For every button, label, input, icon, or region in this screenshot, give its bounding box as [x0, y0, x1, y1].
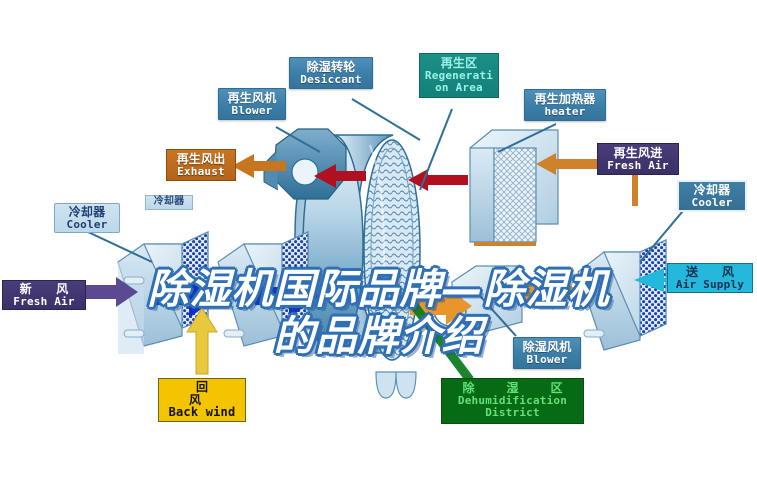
label-regen-blower-en: Blower [223, 105, 281, 117]
regen-heater-graphic [470, 130, 558, 246]
label-regen-blower: 再生风机 Blower [218, 88, 286, 120]
label-dehumid-blower: 除湿风机 Blower [513, 337, 581, 369]
label-exhaust-cn: 再生风出 [171, 153, 231, 166]
label-dehumid-district-cn: 除 湿 区 [446, 382, 579, 395]
label-regen-area-en-line2: on Area [423, 82, 495, 94]
label-air-supply-cn: 送 风 [672, 266, 748, 279]
label-regen-area-en-line1: Regenerati [423, 70, 495, 82]
label-fresh-air-left-en: Fresh Air [7, 296, 81, 308]
label-dehumid-district-en-line2: District [446, 407, 579, 420]
regen-wheel-arrow-graphic [408, 169, 468, 191]
label-dehumid-blower-cn: 除湿风机 [518, 341, 576, 354]
watermark-text: xt [360, 318, 371, 333]
label-cooler-small: 冷却器 [145, 195, 193, 210]
label-regen-area-cn: 再生区 [423, 57, 495, 70]
label-back-wind-en: Back wind [163, 406, 241, 419]
label-regen-blower-cn: 再生风机 [223, 92, 281, 105]
label-air-supply-en: Air Supply [672, 279, 748, 291]
label-regen-heater-cn: 再生加热器 [529, 93, 601, 106]
label-desiccant-wheel-cn: 除湿转轮 [294, 61, 368, 74]
label-regen-heater-en: heater [529, 106, 601, 118]
label-desiccant-wheel: 除湿转轮 Desiccant [289, 57, 373, 89]
cooler-coil-right-graphic [578, 240, 666, 350]
label-dehumid-district: 除 湿 区 Dehumidification District [441, 378, 584, 424]
label-regen-fresh-air-cn: 再生风进 [602, 147, 674, 160]
label-cooler-right-en: Cooler [683, 197, 741, 209]
dehumidifier-schematic-image: xt 除湿转轮 Desiccant 再生风机 Blower 再生区 Regene… [0, 0, 757, 488]
label-fresh-air-left-cn: 新 风 [7, 283, 81, 296]
label-air-supply: 送 风 Air Supply [667, 263, 753, 293]
label-exhaust-en: Exhaust [171, 166, 231, 178]
label-regen-heater: 再生加热器 heater [524, 89, 606, 121]
label-fresh-air-left: 新 风 Fresh Air [2, 280, 86, 310]
label-back-wind-cn: 回 风 [163, 381, 241, 406]
label-cooler-left: 冷却器 Cooler [54, 203, 120, 233]
label-desiccant-wheel-en: Desiccant [294, 74, 368, 86]
schematic-artwork: xt [0, 0, 757, 488]
label-regen-fresh-air-en: Fresh Air [602, 160, 674, 172]
label-cooler-right: 冷却器 Cooler [677, 180, 747, 212]
label-cooler-small-cn: 冷却器 [149, 197, 189, 208]
blower-out-arrow-graphic [518, 272, 578, 310]
label-cooler-right-cn: 冷却器 [683, 184, 741, 197]
label-regen-area: 再生区 Regenerati on Area [419, 53, 499, 98]
label-cooler-left-cn: 冷却器 [59, 206, 115, 219]
label-regen-fresh-air: 再生风进 Fresh Air [597, 143, 679, 175]
label-cooler-left-en: Cooler [59, 219, 115, 231]
label-exhaust: 再生风出 Exhaust [166, 149, 236, 181]
label-back-wind: 回 风 Back wind [158, 378, 246, 422]
label-dehumid-blower-en: Blower [518, 354, 576, 366]
